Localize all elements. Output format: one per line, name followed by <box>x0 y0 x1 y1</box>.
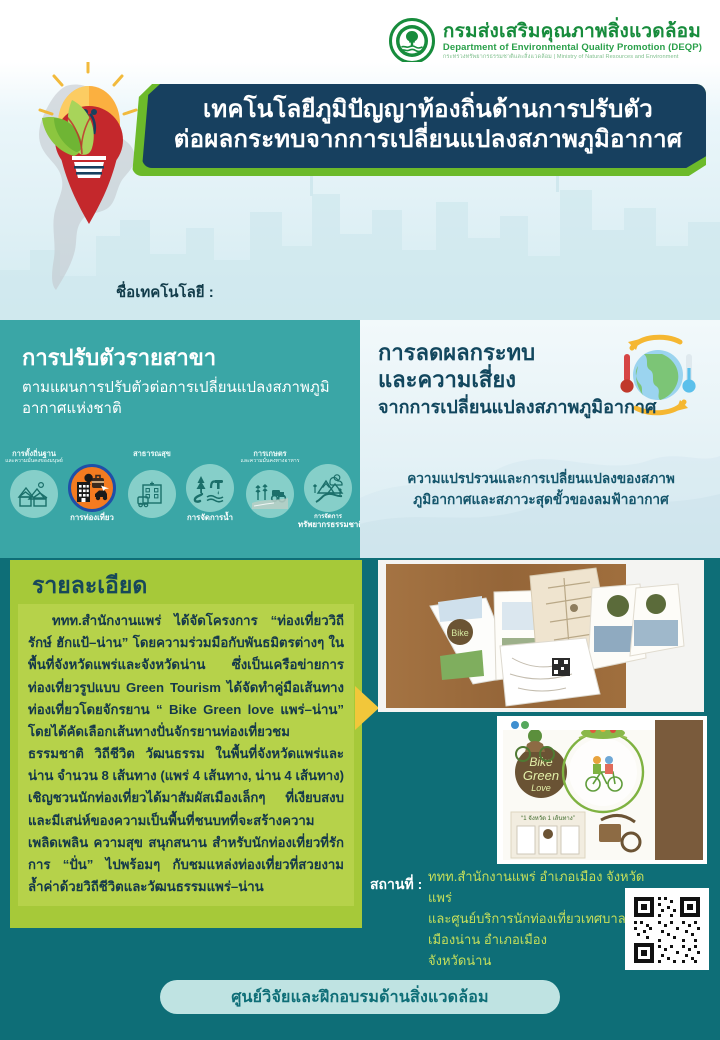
mitigation-body-line-1: ความแปรปรวนและการเปลี่ยนแปลงของสภาพ <box>374 468 708 489</box>
footer-pill: ศูนย์วิจัยและฝึกอบรมด้านสิ่งแวดล้อม <box>160 980 560 1014</box>
health-icon <box>128 470 176 518</box>
place-line-4: จังหวัดน่าน <box>428 950 648 971</box>
arrow-right-icon <box>355 686 379 730</box>
place-line-2: และศูนย์บริการนักท่องเที่ยวเทศบาล <box>428 908 648 929</box>
mitigation-heading-line-2: และความเสี่ยง <box>378 367 704 394</box>
org-name-th: กรมส่งเสริมคุณภาพสิ่งแวดล้อม <box>443 22 702 42</box>
sector-label-natural-resources: การจัดการ ทรัพยากรธรรมชาติ <box>298 514 358 530</box>
svg-text:Bike: Bike <box>451 628 469 638</box>
main-title-line-2: ต่อผลกระทบจากการเปลี่ยนแปลงสภาพภูมิอากาศ <box>174 125 682 155</box>
deqp-emblem-icon <box>389 18 435 64</box>
natural-resources-icon <box>304 464 352 512</box>
title-plate-body: เทคโนโลยีภูมิปัญญาท้องถิ่นด้านการปรับตัว… <box>142 84 706 168</box>
sector-label-settlement: การตั้งถิ่นฐาน และความมั่นคงของมนุษย์ <box>4 450 64 468</box>
place-line-1: ททท.สำนักงานแพร่ อำเภอเมือง จังหวัดแพร่ <box>428 866 648 908</box>
sector-item-settlement[interactable]: การตั้งถิ่นฐาน และความมั่นคงของมนุษย์ <box>4 450 64 518</box>
hero-section: เทคโนโลยีภูมิปัญญาท้องถิ่นด้านการปรับตัว… <box>0 62 720 320</box>
mitigation-heading-line-1: การลดผลกระทบ <box>378 340 704 367</box>
svg-text:Green: Green <box>523 768 559 783</box>
sector-item-water[interactable]: การจัดการน้ำ <box>180 464 240 523</box>
mitigation-body: ความแปรปรวนและการเปลี่ยนแปลงของสภาพ ภูมิ… <box>374 468 708 510</box>
settlement-icon <box>10 470 58 518</box>
details-panel: รายละเอียด ททท.สำนักงานแพร่ ได้จัดโครงกา… <box>10 560 362 928</box>
mid-band: การปรับตัวรายสาขา ตามแผนการปรับตัวต่อการ… <box>0 320 720 558</box>
bike-green-love-poster-photo: Bike Green Love <box>497 716 707 864</box>
sector-label-tourism: การท่องเที่ยว <box>62 514 122 523</box>
sector-icon-row: การตั้งถิ่นฐาน และความมั่นคงของมนุษย์ <box>0 450 360 554</box>
place-line-3: เมืองน่าน อำเภอเมือง <box>428 929 648 950</box>
adaptation-panel: การปรับตัวรายสาขา ตามแผนการปรับตัวต่อการ… <box>0 320 360 558</box>
mitigation-panel: การลดผลกระทบ และความเสี่ยง จากการเปลี่ยน… <box>360 320 720 558</box>
svg-text:“1 จังหวัด 1 เส้นทาง”: “1 จังหวัด 1 เส้นทาง” <box>521 815 574 822</box>
place-address: ททท.สำนักงานแพร่ อำเภอเมือง จังหวัดแพร่ … <box>428 866 648 971</box>
poster-root: กรมส่งเสริมคุณภาพสิ่งแวดล้อม Department … <box>0 0 720 1040</box>
mitigation-subheading: จากการเปลี่ยนแปลงสภาพภูมิอากาศ <box>378 396 704 419</box>
org-name-en: Department of Environmental Quality Prom… <box>443 43 702 53</box>
main-title-plate: เทคโนโลยีภูมิปัญญาท้องถิ่นด้านการปรับตัว… <box>132 84 706 176</box>
svg-text:Love: Love <box>531 783 551 793</box>
sector-item-public-health[interactable]: สาธารณสุข <box>122 450 182 518</box>
deqp-logo: กรมส่งเสริมคุณภาพสิ่งแวดล้อม Department … <box>389 18 702 64</box>
sector-item-agriculture[interactable]: การเกษตร และความมั่นคงทางอาหาร <box>240 450 300 518</box>
agriculture-icon <box>246 470 294 518</box>
brochure-photo: Bike <box>378 560 704 712</box>
tourism-icon <box>68 464 116 512</box>
details-body-text: ททท.สำนักงานแพร่ ได้จัดโครงการ “ท่องเที่… <box>18 604 354 906</box>
mitigation-body-line-2: ภูมิอากาศและสภาวะสุดขั้วของลมฟ้าอากาศ <box>374 489 708 510</box>
place-label: สถานที่ : <box>370 874 422 896</box>
lower-section: รายละเอียด ททท.สำนักงานแพร่ ได้จัดโครงกา… <box>0 558 720 970</box>
water-icon <box>186 464 234 512</box>
ministry-name: กระทรวงทรัพยากรธรรมชาติและสิ่งแวดล้อม | … <box>443 55 702 61</box>
details-heading: รายละเอียด <box>10 560 362 608</box>
sector-label-public-health: สาธารณสุข <box>122 450 182 468</box>
qr-code-image[interactable] <box>625 888 709 972</box>
poster-footer: ศูนย์วิจัยและฝึกอบรมด้านสิ่งแวดล้อม <box>0 970 720 1040</box>
sector-item-natural-resources[interactable]: การจัดการ ทรัพยากรธรรมชาติ <box>298 464 358 530</box>
adaptation-heading: การปรับตัวรายสาขา <box>22 344 342 372</box>
adaptation-subheading: ตามแผนการปรับตัวต่อการเปลี่ยนแปลงสภาพภูม… <box>22 377 342 421</box>
sector-label-water: การจัดการน้ำ <box>180 514 240 523</box>
main-title-line-1: เทคโนโลยีภูมิปัญญาท้องถิ่นด้านการปรับตัว <box>203 95 653 125</box>
sector-label-agriculture: การเกษตร และความมั่นคงทางอาหาร <box>240 450 300 468</box>
footer-text: ศูนย์วิจัยและฝึกอบรมด้านสิ่งแวดล้อม <box>231 985 489 1010</box>
sector-item-tourism[interactable]: การท่องเที่ยว <box>62 464 122 523</box>
technology-label: ชื่อเทคโนโลยี : <box>116 280 214 304</box>
